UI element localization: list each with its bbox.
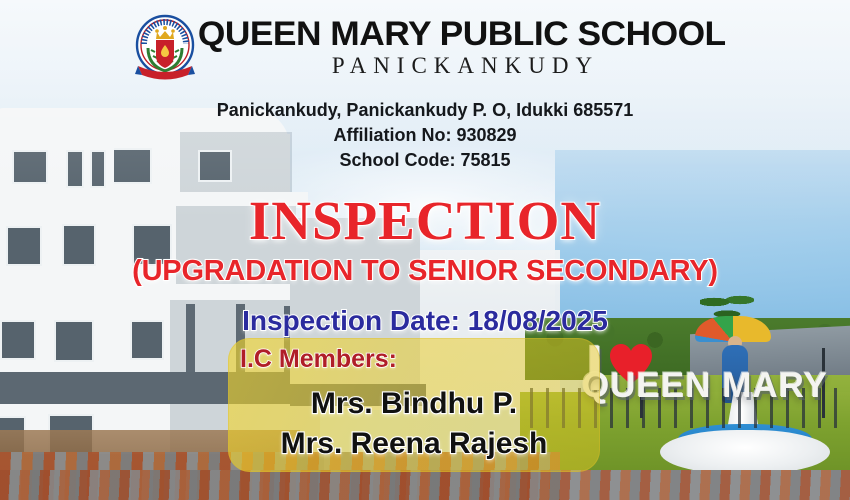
list-item: Mrs. Bindhu P. xyxy=(228,384,600,424)
list-item: Mrs. Reena Rajesh xyxy=(228,424,600,464)
school-address-block: Panickankudy, Panickankudy P. O, Idukki … xyxy=(0,98,850,173)
school-title-block: QUEEN MARY PUBLIC SCHOOL PANICKANKUDY xyxy=(208,16,715,79)
affiliation-number: Affiliation No: 930829 xyxy=(0,123,850,148)
address-line: Panickankudy, Panickankudy P. O, Idukki … xyxy=(0,98,850,123)
school-header: QUEEN MARY PUBLIC SCHOOL PANICKANKUDY xyxy=(0,14,850,80)
ic-members-list: Mrs. Bindhu P. Mrs. Reena Rajesh xyxy=(228,384,600,464)
ic-members-label: I.C Members: xyxy=(240,344,397,374)
poster-content: QUEEN MARY PUBLIC SCHOOL PANICKANKUDY Pa… xyxy=(0,0,850,500)
school-crest-icon xyxy=(134,14,196,80)
inspection-announcement-poster: I QUEEN MARY QUEEN MA xyxy=(0,0,850,500)
inspection-title: INSPECTION xyxy=(0,192,850,250)
inspection-date: Inspection Date: 18/08/2025 xyxy=(0,305,850,337)
school-name: QUEEN MARY PUBLIC SCHOOL xyxy=(198,16,726,52)
inspection-subtitle: (UPGRADATION TO SENIOR SECONDARY) xyxy=(0,254,850,288)
school-subtitle: PANICKANKUDY xyxy=(325,52,599,79)
school-code: School Code: 75815 xyxy=(0,148,850,173)
